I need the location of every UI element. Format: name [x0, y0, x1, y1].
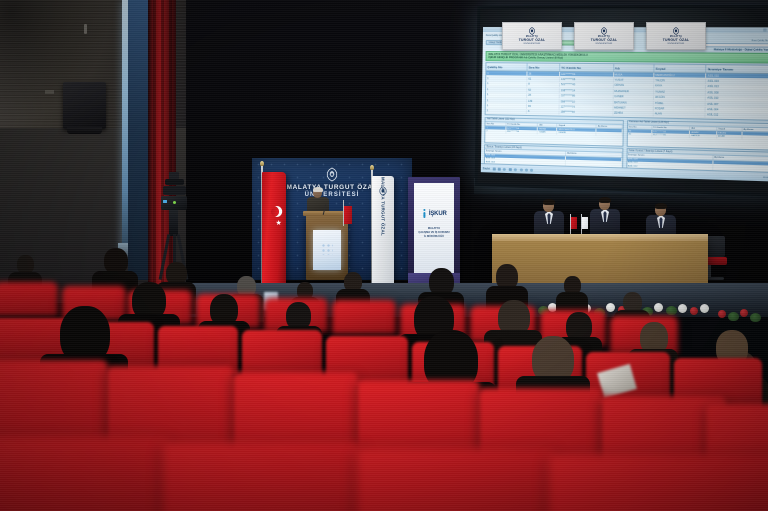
speaker-hair: [313, 187, 323, 192]
rollup-canvas: İŞKUR MALATYA ÇALIŞMA VE İŞ KURUMU İL MÜ…: [414, 183, 454, 273]
draw-count-input[interactable]: [704, 42, 768, 47]
excel-icon[interactable]: [509, 168, 512, 171]
camera-led-icon: [173, 201, 176, 204]
star-icon: ★: [276, 220, 282, 227]
placard-line-3: ÜNİVERSİTESİ: [596, 43, 613, 45]
placard-line-2: TURGUT ÖZAL: [591, 38, 618, 42]
subpanel-cell-aciklama: [596, 132, 622, 136]
subpanel-cell-sira: 40: [627, 133, 651, 137]
rollup-subtitle: MALATYA ÇALIŞMA VE İŞ KURUMU İL MÜDÜRLÜĞ…: [412, 227, 456, 238]
table-cell-tc: 198*******44: [559, 110, 613, 117]
toolbar-right-group: Kura Çekiliş No / Adet: [704, 40, 768, 48]
iskur-logo-icon: İŞKUR: [421, 209, 446, 218]
panel-official-2: [590, 198, 620, 238]
subpanel-cell-tc: 512*******90: [651, 133, 689, 137]
flag-finial-right: [370, 165, 374, 170]
subpanel-cell-soyad: ACAR: [717, 135, 742, 139]
subpanel-cell-aciklama: [742, 136, 768, 140]
camera-rig-2: [163, 186, 186, 195]
subpanel-cell-soyad: DEMİR: [557, 131, 596, 135]
placard-line-2: TURGUT ÖZAL: [519, 38, 546, 42]
subpanel-cell-ad: OZAN: [538, 131, 557, 135]
seat-r0-1: [0, 436, 170, 511]
seat-r0-3: [356, 448, 556, 511]
subpanel-cell-tc: 460*******90: [505, 130, 537, 134]
table-flag-turkish: [567, 214, 574, 236]
podium-lit-panel: [313, 230, 341, 270]
wall-bracket-icon: [45, 90, 54, 94]
rollup-line-3: İL MÜDÜRLÜĞÜ: [412, 235, 456, 239]
crescent-icon: [268, 206, 279, 217]
placard-line-3: ÜNİVERSİTESİ: [524, 43, 541, 45]
table-flag-university: [578, 214, 585, 236]
turkish-flag: ★: [262, 172, 286, 290]
tripod-column: [169, 210, 178, 236]
projected-application: Kura Çekiliş Listesi Listeyi Yazdır Kuru…: [481, 27, 768, 182]
university-seal-icon: [672, 27, 680, 35]
browser-icon[interactable]: [498, 167, 501, 170]
subpanel-cell-sira: 2: [485, 130, 505, 134]
table-cell-cekilis: 1: [486, 108, 527, 114]
seat-r3-6: [332, 300, 396, 334]
placard-1: MALATYA TURGUT ÖZAL ÜNİVERSİTESİ: [502, 22, 562, 50]
university-seal-icon: [528, 27, 536, 35]
subpanel-kazanan[interactable]: Kazanan Asil Talihli Listesi (126 Kişi) …: [626, 120, 768, 151]
subpanel-asil[interactable]: Asil Talihli Listesi (132 Kişi) Sıra NoT…: [484, 117, 623, 147]
placard-line-3: ÜNİVERSİTESİ: [668, 43, 685, 45]
seat-r2-4: [242, 330, 322, 378]
mail-icon[interactable]: [503, 167, 506, 170]
taskbar-clock[interactable]: 14:32 12.03.2024: [763, 175, 768, 180]
table-cell-sira: 3: [526, 109, 559, 115]
podium: [306, 214, 348, 280]
minimize-icon[interactable]: [763, 29, 766, 32]
desk-turkish-flag: [344, 206, 352, 224]
placard-2: MALATYA TURGUT ÖZAL ÜNİVERSİTESİ: [574, 22, 634, 50]
settings-icon[interactable]: [519, 168, 522, 171]
university-flag-text: MALATYA TURGUT ÖZAL: [381, 177, 386, 236]
table-cell-ad: ZEHRA: [612, 111, 653, 117]
folder-icon[interactable]: [492, 167, 495, 170]
camera-top-handle: [169, 172, 179, 179]
university-flag: MALATYA TURGUT ÖZAL: [372, 176, 394, 286]
backdrop-title: MALATYA TURGUT ÖZAL: [287, 184, 378, 191]
camera-rig-1: [165, 179, 184, 185]
subpanel-cell-ad: HATİCE: [690, 134, 717, 138]
university-seal-icon: [600, 27, 608, 35]
placard-3: MALATYA TURGUT ÖZAL ÜNİVERSİTESİ: [646, 22, 706, 50]
wall-speaker-icon: [63, 82, 106, 129]
panel-table-top: [492, 234, 708, 241]
results-grid[interactable]: Çekiliş NoSıra NoTC Kimlik NoAdıSoyadİkr…: [485, 62, 768, 121]
iskur-mark-icon: [421, 209, 427, 218]
blue-wall-panel: [128, 0, 150, 280]
network-icon[interactable]: [525, 168, 528, 171]
word-icon[interactable]: [514, 168, 517, 171]
placard-line-2: TURGUT ÖZAL: [663, 38, 690, 42]
auditorium-photo: Kura Çekiliş Listesi Listeyi Yazdır Kuru…: [0, 0, 768, 511]
wall-fixture-icon: [84, 24, 87, 34]
table-body[interactable]: 136121*******04MUSAMERCANOĞLUASİL 002161…: [486, 71, 768, 120]
clock-date: 12.03.2024: [763, 177, 768, 180]
rollup-line-2: ÇALIŞMA VE İŞ KURUMU: [412, 231, 456, 235]
seat-r0-2: [162, 442, 362, 511]
iskur-wordmark: İŞKUR: [429, 211, 447, 217]
camera-screen-icon: [163, 200, 167, 203]
seat-r0-4: [548, 454, 768, 511]
university-seal-icon: [325, 167, 340, 182]
banner-line-2: İŞKUR GENÇLİK PROGRAMI Adı Çekiliş Sonuç…: [489, 56, 768, 61]
volume-icon[interactable]: [530, 168, 533, 171]
table-cell-ikramiye: ASİL 012: [705, 112, 768, 119]
start-button[interactable]: Başlat: [483, 167, 490, 170]
table-cell-soyad: ALAN: [653, 111, 705, 118]
flag-finial-left: [260, 161, 264, 166]
flower-arrangement-2: [716, 306, 766, 332]
